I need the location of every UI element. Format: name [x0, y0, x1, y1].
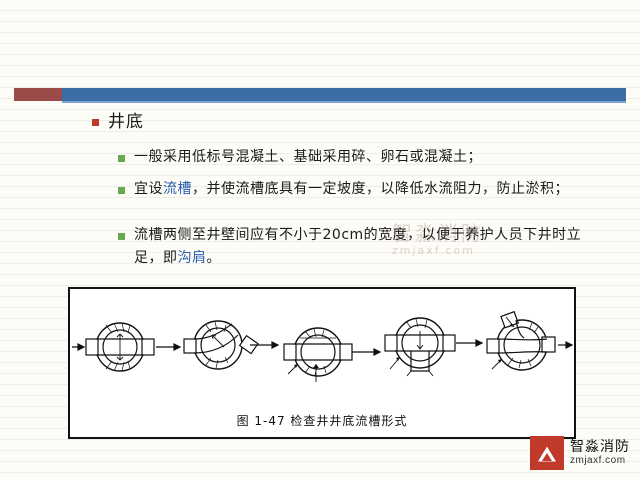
bullet-3-seg-2: 。 [207, 250, 222, 266]
brand-name: 智淼消防 [570, 440, 630, 455]
bullet-level2-1-text: 一般采用低标号混凝土、基础采用碎、卵石或混凝土； [134, 146, 589, 169]
manhole-flow-channel-diagram [70, 297, 574, 397]
bullet-square-green-icon [118, 187, 125, 194]
figure-caption: 图 1-47 检查井井底流槽形式 [70, 412, 574, 429]
bullet-level2-2-text: 宜设流槽，并使流槽底具有一定坡度，以降低水流阻力，防止淤积； [134, 178, 589, 201]
brand-logo: 智淼消防 zmjaxf.com [530, 436, 630, 470]
bullet-1-seg-0: 一般采用低标号混凝土、基础采用碎、卵石或混凝土； [134, 149, 482, 165]
bullet-level2-3-text: 流槽两侧至井壁间应有不小于20cm的宽度，以便于养护人员下井时立足，即沟肩。 [134, 224, 589, 269]
header-accent-blue-bar [62, 88, 626, 101]
brand-domain: zmjaxf.com [570, 455, 630, 466]
bullet-3-seg-1-highlight: 沟肩 [178, 250, 207, 266]
figure-diagrams [70, 297, 574, 397]
brand-logo-text: 智淼消防 zmjaxf.com [570, 440, 630, 466]
bullet-square-red-icon [92, 119, 99, 126]
header-accent-red-bar [14, 88, 62, 101]
bullet-level2-1: 一般采用低标号混凝土、基础采用碎、卵石或混凝土； [118, 146, 589, 169]
bullet-level2-3: 流槽两侧至井壁间应有不小于20cm的宽度，以便于养护人员下井时立足，即沟肩。 [118, 224, 589, 269]
slide: 智淼消防 zmjaxf.com 井底 一般采用低标号混凝土、基础采用碎、卵石或混… [0, 0, 640, 480]
bullet-level2-2: 宜设流槽，并使流槽底具有一定坡度，以降低水流阻力，防止淤积； [118, 178, 589, 201]
bullet-square-green-icon [118, 233, 125, 240]
bullet-2-seg-2: ，并使流槽底具有一定坡度，以降低水流阻力，防止淤积； [192, 181, 569, 197]
bullet-square-green-icon [118, 155, 125, 162]
bullet-level1: 井底 [92, 110, 144, 136]
header-accent-blue-underline [62, 101, 626, 103]
shield-triangle-icon [530, 436, 564, 470]
triangle-inner-icon [542, 453, 552, 461]
bullet-level1-label: 井底 [108, 110, 144, 136]
bullet-2-seg-0: 宜设 [134, 181, 163, 197]
figure-box: 图 1-47 检查井井底流槽形式 [68, 287, 576, 439]
bullet-2-seg-1-highlight: 流槽 [163, 181, 192, 197]
